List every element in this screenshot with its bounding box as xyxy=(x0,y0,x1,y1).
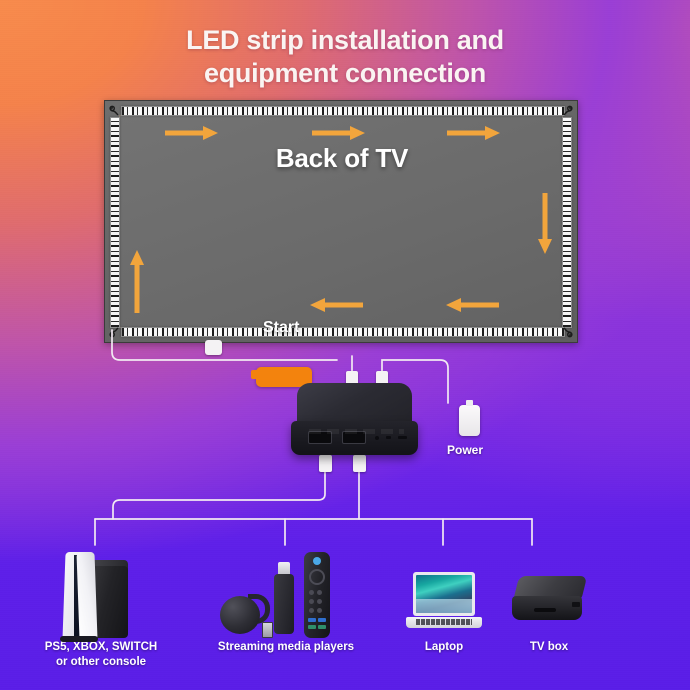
led-strip-bottom xyxy=(121,327,565,337)
tv-back-panel: Back of TV Start xyxy=(104,100,578,343)
corner-connector-icon xyxy=(557,323,573,339)
tv-box-icon xyxy=(494,556,604,640)
game-console-icon xyxy=(26,548,176,640)
usb-port[interactable] xyxy=(398,436,407,439)
micro-port[interactable] xyxy=(386,436,391,439)
device-streaming[interactable]: Streaming media players xyxy=(212,548,360,655)
device-tvbox[interactable]: TV box xyxy=(494,556,604,655)
start-label: Start xyxy=(263,319,299,337)
hdmi-plug-out-2 xyxy=(353,455,366,472)
device-laptop[interactable]: Laptop xyxy=(396,556,492,655)
direction-arrow-left xyxy=(445,297,499,313)
device-console[interactable]: PS5, XBOX, SWITCH or other console xyxy=(26,548,176,671)
tv-label: Back of TV xyxy=(105,143,579,174)
direction-arrow-left xyxy=(309,297,363,313)
controller-front-face xyxy=(291,421,418,455)
corner-connector-icon xyxy=(557,104,573,120)
led-strip-top xyxy=(121,106,565,116)
direction-arrow-right xyxy=(165,125,219,141)
device-label-streaming: Streaming media players xyxy=(212,640,360,655)
page-title: LED strip installation and equipment con… xyxy=(0,24,690,91)
round-port[interactable] xyxy=(375,436,379,440)
power-adapter-icon xyxy=(459,405,480,436)
direction-arrow-up xyxy=(129,249,145,313)
device-label-tvbox: TV box xyxy=(494,640,604,655)
corner-connector-icon xyxy=(109,104,125,120)
direction-arrow-right xyxy=(312,125,366,141)
usb-plug-tv-lead xyxy=(205,340,222,355)
power-label: Power xyxy=(447,443,483,457)
device-label-console: PS5, XBOX, SWITCH or other console xyxy=(26,640,176,671)
led-controller-box[interactable] xyxy=(291,383,418,457)
direction-arrow-down xyxy=(537,193,553,255)
hdmi-plug-out-1 xyxy=(319,455,332,472)
corner-connector-icon xyxy=(109,323,125,339)
controller-port-labels xyxy=(309,429,404,434)
device-label-laptop: Laptop xyxy=(396,640,492,655)
laptop-icon xyxy=(396,556,492,640)
direction-arrow-right xyxy=(447,125,501,141)
streaming-stick-icon xyxy=(212,548,360,640)
